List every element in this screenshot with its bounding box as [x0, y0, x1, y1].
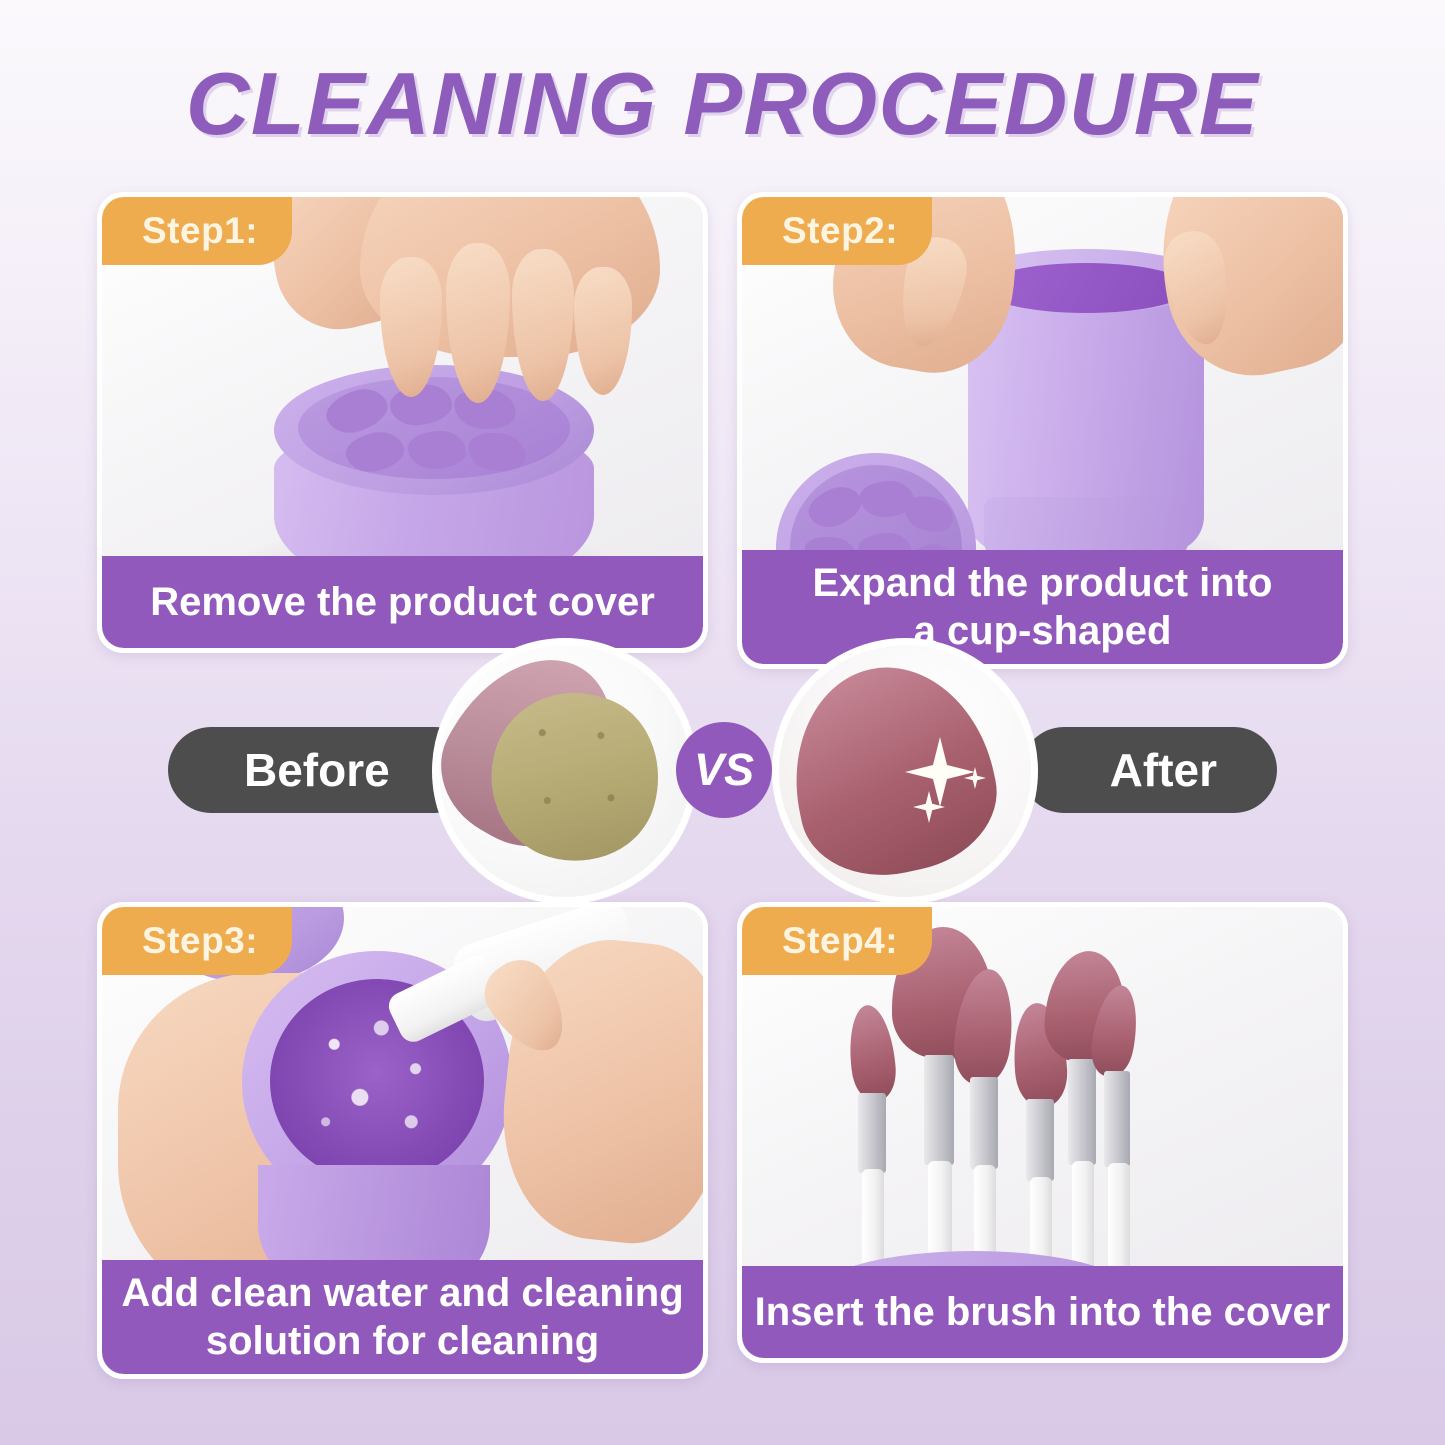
before-brush-photo — [432, 638, 698, 904]
after-label-pill: After — [1021, 727, 1277, 813]
cup-rib — [830, 1359, 1118, 1363]
step-1-tag: Step1: — [102, 197, 292, 265]
lid-petal — [408, 431, 466, 469]
before-label-text: Before — [244, 743, 390, 797]
step-2-caption-line-1: Expand the product into — [813, 559, 1273, 607]
brush-ferrule — [924, 1055, 954, 1165]
brush-bristles — [845, 1003, 899, 1103]
step-3-caption: Add clean water and cleaning solution fo… — [102, 1260, 703, 1374]
after-label-text: After — [1110, 743, 1217, 797]
step-1-caption: Remove the product cover — [102, 556, 703, 648]
infographic-poster: CLEANING PROCEDURE Step1: Remove the pro… — [0, 0, 1445, 1445]
page-title: CLEANING PROCEDURE — [0, 52, 1445, 156]
step-card-3: Step3: Add clean water and cleaning solu… — [97, 902, 708, 1379]
brush-ferrule — [1104, 1071, 1130, 1167]
vs-label-text: VS — [694, 744, 754, 796]
step-4-caption-line-1: Insert the brush into the cover — [755, 1288, 1331, 1336]
step-3-caption-line-1: Add clean water and cleaning — [121, 1269, 683, 1317]
finger — [574, 267, 632, 395]
step-3-tag: Step3: — [102, 907, 292, 975]
step-card-2: Step2: Expand the product into a cup-sha… — [737, 192, 1348, 669]
cup-base — [984, 497, 1188, 555]
step-1-caption-line-1: Remove the product cover — [150, 578, 655, 626]
vs-badge: VS — [676, 722, 772, 818]
step-2-tag: Step2: — [742, 197, 932, 265]
step-4-caption: Insert the brush into the cover — [742, 1266, 1343, 1358]
step-card-1: Step1: Remove the product cover — [97, 192, 708, 653]
step-card-4: Step4: Insert the brush into the cover — [737, 902, 1348, 1363]
brush-ferrule — [1026, 1099, 1054, 1181]
step-2-caption: Expand the product into a cup-shaped — [742, 550, 1343, 664]
brush-ferrule — [858, 1093, 886, 1173]
lid-petal — [249, 902, 306, 903]
brush-ferrule — [1068, 1059, 1096, 1165]
step-4-tag: Step4: — [742, 907, 932, 975]
brush-handle — [1108, 1163, 1130, 1281]
after-brush-photo — [772, 638, 1038, 904]
step-3-caption-line-2: solution for cleaning — [206, 1317, 599, 1365]
brush-ferrule — [970, 1077, 998, 1169]
